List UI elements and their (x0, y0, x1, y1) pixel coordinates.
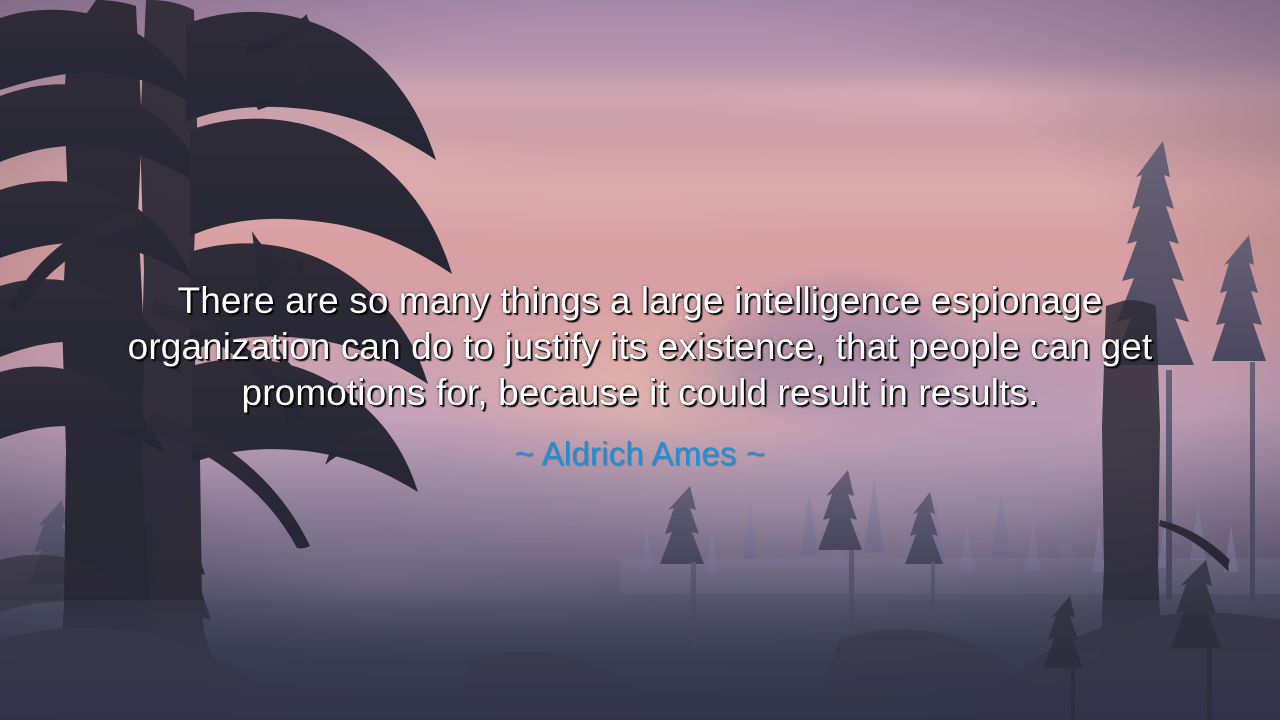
quote-text: There are so many things a large intelli… (110, 278, 1170, 416)
quote-author: ~ Aldrich Ames ~ (515, 434, 766, 474)
quote-image-canvas: There are so many things a large intelli… (0, 0, 1280, 720)
ground-haze (0, 600, 1280, 720)
far-conifer-ridge (620, 478, 1280, 594)
